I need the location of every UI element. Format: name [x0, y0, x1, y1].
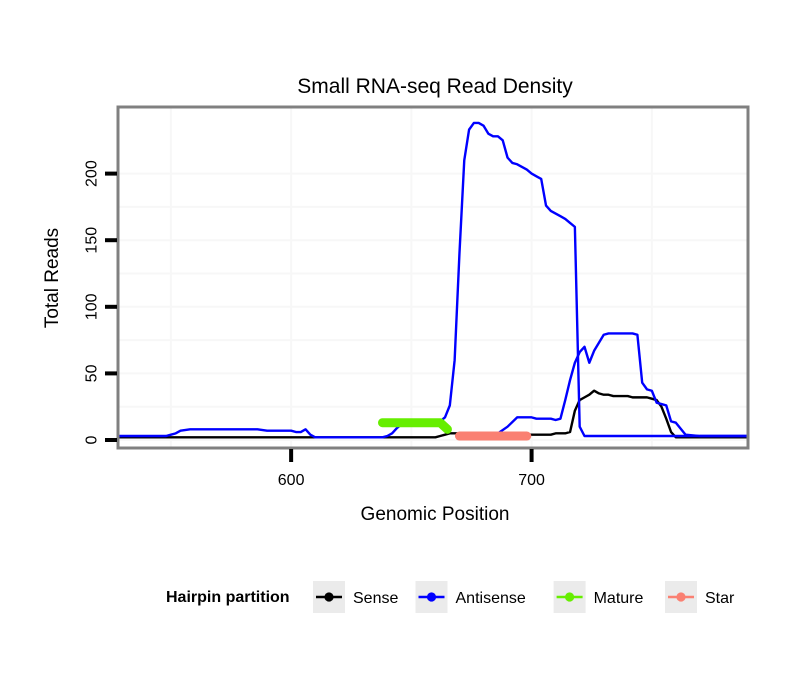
legend-label: Antisense	[456, 590, 526, 607]
legend-title: Hairpin partition	[166, 589, 290, 606]
chart-container: Small RNA-seq Read Density 050100150200 …	[0, 0, 810, 690]
y-tick-label: 0	[84, 435, 101, 444]
legend-key-point	[324, 592, 333, 601]
plot-panel	[118, 107, 748, 448]
legend-key-point	[676, 592, 685, 601]
legend-key-point	[427, 592, 436, 601]
chart-title: Small RNA-seq Read Density	[297, 75, 573, 98]
legend-key-point	[565, 592, 574, 601]
y-tick-label: 100	[84, 293, 101, 320]
x-tick-label: 600	[278, 472, 305, 489]
legend-label: Sense	[353, 590, 398, 607]
y-tick-label: 50	[84, 364, 101, 382]
y-axis-title: Total Reads	[42, 228, 63, 328]
y-tick-label: 150	[84, 227, 101, 254]
x-tick-label: 700	[518, 472, 545, 489]
x-axis-title: Genomic Position	[361, 504, 510, 525]
read-density-chart: Small RNA-seq Read Density 050100150200 …	[0, 0, 810, 690]
legend-label: Mature	[594, 590, 644, 607]
legend-label: Star	[705, 590, 735, 607]
y-tick-label: 200	[84, 160, 101, 187]
